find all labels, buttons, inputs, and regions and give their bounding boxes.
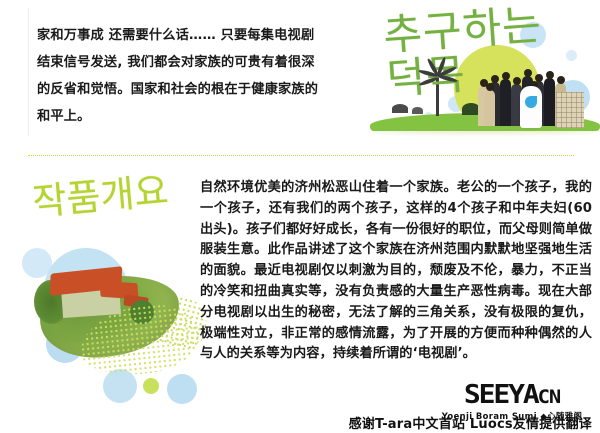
korean-heading-bottom: 작품개요 — [31, 169, 204, 222]
logo-wordmark-text: SEEYA — [464, 380, 538, 410]
section-divider — [28, 155, 574, 156]
top-section: 家和万事成 还需要什么话…… 只要每集电视剧 结束信号发送, 我们都会对家族的可… — [0, 0, 600, 150]
bush-icon — [392, 104, 408, 113]
intro-line: 的反省和觉悟。国家和社会的根在于健康家族的 — [37, 76, 382, 103]
house-illustration — [18, 248, 198, 383]
intro-line: 家和万事成 还需要什么话…… 只要每集电视剧 — [37, 22, 382, 49]
poster-page: 家和万事成 还需要什么话…… 只要每集电视剧 结束信号发送, 我们都会对家族的可… — [0, 0, 600, 433]
intro-text-block: 家和万事成 还需要什么话…… 只要每集电视剧 结束信号发送, 我们都会对家族的可… — [37, 22, 382, 130]
intro-line: 和平上。 — [37, 103, 382, 130]
logo-wordmark-cn: CN — [538, 386, 561, 408]
footer: SEEYACN Yoenji Boram Sumi ◆心随雅阁 感谢T-ara中… — [0, 382, 600, 433]
translation-credit: 感谢T-ara中文首站 Luocs友情提供翻译 — [349, 413, 592, 432]
top-banner-artwork: 추구하는 덕목 — [370, 0, 600, 150]
bush-icon — [412, 107, 423, 114]
body-paragraph: 自然环境优美的济州松恶山住着一个家族。老公的一个孩子，我的一个孩子，还有我们的两… — [200, 178, 592, 365]
logo-wordmark: SEEYACN — [426, 382, 599, 410]
person-silhouette — [484, 90, 495, 126]
korean-heading-top: 추구하는 덕목 — [382, 0, 588, 102]
house-building-icon — [556, 92, 584, 128]
bouquet-icon — [525, 96, 537, 108]
intro-accent-bar — [28, 8, 29, 136]
intro-line: 结束信号发送, 我们都会对家族的可贵有着很深 — [37, 49, 382, 76]
